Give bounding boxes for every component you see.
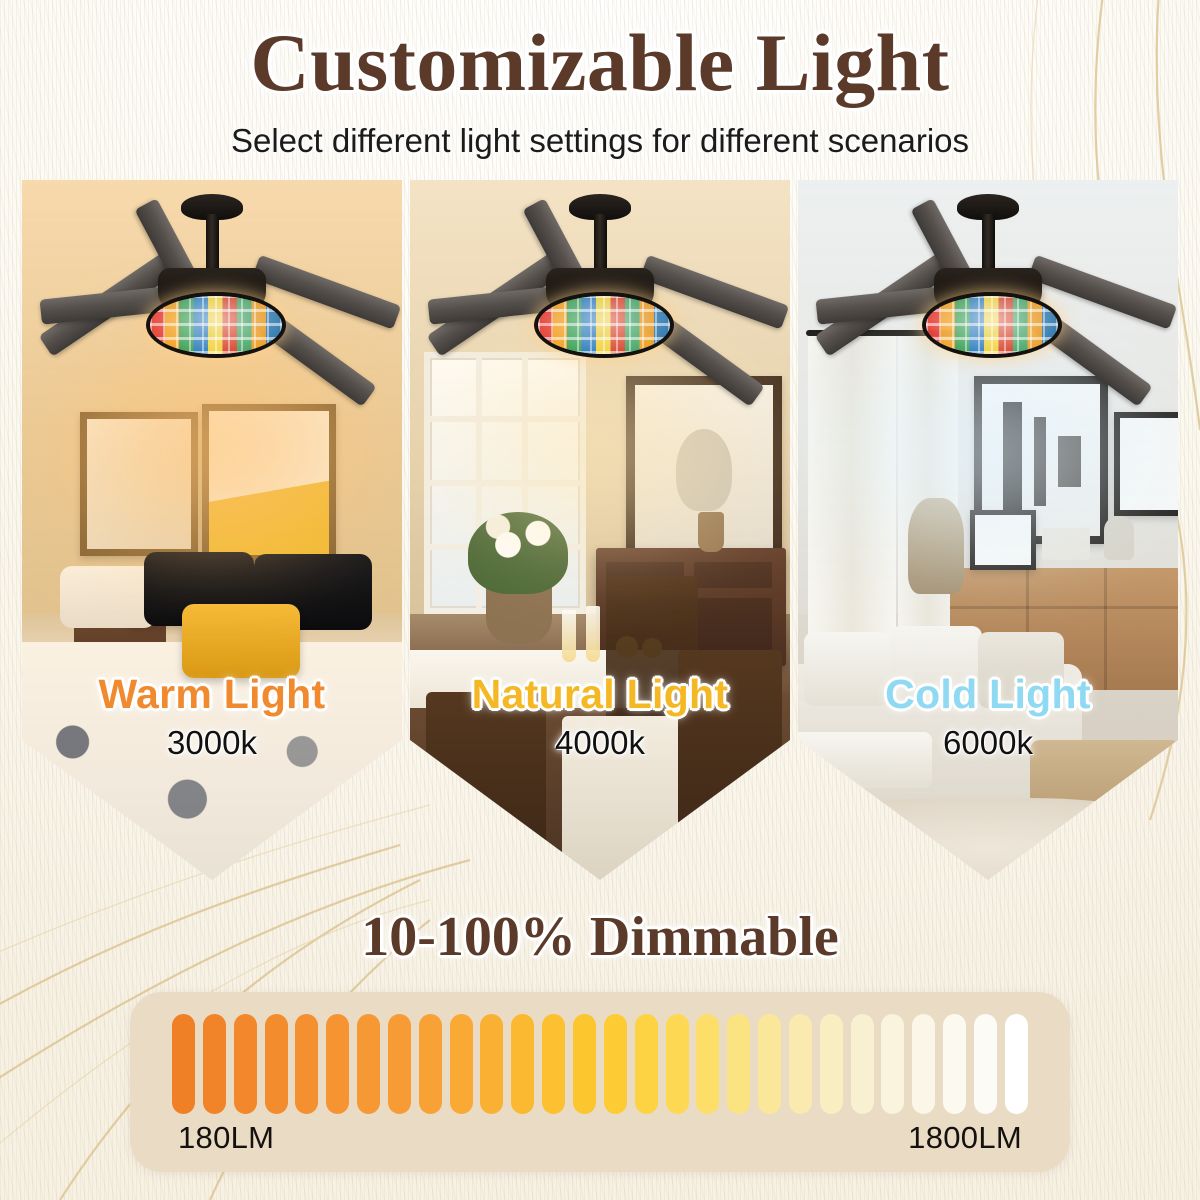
- lumen-range-row: 180LM 1800LM: [178, 1120, 1022, 1156]
- decor-vase: [1104, 516, 1134, 560]
- shade-highlight: [538, 296, 670, 354]
- scenario-card-cold[interactable]: Cold Light 6000k: [798, 180, 1178, 880]
- dimmer-bar[interactable]: [604, 1014, 627, 1114]
- frame-art-flowers: [676, 429, 731, 511]
- light-kelvin: 3000k: [22, 724, 402, 762]
- dimmer-bar[interactable]: [419, 1014, 442, 1114]
- dimmer-bar[interactable]: [326, 1014, 349, 1114]
- dimmer-bar[interactable]: [295, 1014, 318, 1114]
- fan-light-shade-mosaic: [922, 292, 1062, 358]
- shade-highlight: [150, 296, 282, 354]
- dimmer-bar[interactable]: [265, 1014, 288, 1114]
- lumen-min-label: 180LM: [178, 1120, 274, 1156]
- dimmer-bar[interactable]: [573, 1014, 596, 1114]
- dimmer-panel[interactable]: 180LM 1800LM: [130, 992, 1070, 1172]
- dimmer-bar[interactable]: [789, 1014, 812, 1114]
- drawer: [694, 562, 772, 588]
- fan-downrod: [982, 214, 995, 276]
- fan-downrod: [594, 214, 607, 276]
- dimmer-bar[interactable]: [480, 1014, 503, 1114]
- pillow-yellow-accent: [182, 604, 300, 678]
- branch-vase: [908, 498, 964, 594]
- window-muntin: [430, 480, 580, 486]
- scenario-panels: Warm Light 3000k: [22, 180, 1178, 880]
- dimmer-bar[interactable]: [943, 1014, 966, 1114]
- dimmer-bar[interactable]: [234, 1014, 257, 1114]
- room-photo-living: [798, 180, 1178, 880]
- dimmer-bar[interactable]: [727, 1014, 750, 1114]
- area-rug: [798, 798, 1178, 880]
- wall-frame-left: [80, 412, 198, 556]
- dimmer-bar[interactable]: [450, 1014, 473, 1114]
- frame-art-stroke: [1003, 402, 1022, 511]
- wine-glass: [586, 606, 600, 662]
- fan-light-shade-mosaic: [146, 292, 286, 358]
- frame-art: [87, 419, 191, 549]
- scenario-label-natural: Natural Light 4000k: [410, 671, 790, 762]
- frame-art: [209, 411, 329, 555]
- wall-frame-right: [202, 404, 336, 562]
- light-name: Cold Light: [798, 671, 1178, 718]
- light-name: Natural Light: [410, 671, 790, 718]
- page-subtitle: Select different light settings for diff…: [0, 110, 1200, 160]
- dimmer-bar[interactable]: [172, 1014, 195, 1114]
- cabinet-line: [950, 606, 1178, 609]
- dimmer-bar[interactable]: [511, 1014, 534, 1114]
- window-muntin: [430, 416, 580, 422]
- ceiling-fan-natural: [420, 188, 780, 378]
- page-title: Customizable Light: [0, 0, 1200, 110]
- light-kelvin: 6000k: [798, 724, 1178, 762]
- room-photo-bedroom: [22, 180, 402, 880]
- dimmer-bar[interactable]: [388, 1014, 411, 1114]
- dimmer-bar[interactable]: [635, 1014, 658, 1114]
- scenario-label-warm: Warm Light 3000k: [22, 671, 402, 762]
- dimmer-bar[interactable]: [542, 1014, 565, 1114]
- frame-art-stroke: [1058, 436, 1082, 488]
- dimmer-bar[interactable]: [851, 1014, 874, 1114]
- vase: [698, 512, 724, 552]
- fan-light-shade-mosaic: [534, 292, 674, 358]
- wall-frame-small: [1114, 412, 1178, 516]
- scenario-label-cold: Cold Light 6000k: [798, 671, 1178, 762]
- orchid-plant: [468, 512, 568, 594]
- dimmer-bar[interactable]: [1005, 1014, 1028, 1114]
- dimmer-bar[interactable]: [820, 1014, 843, 1114]
- scenario-card-natural[interactable]: Natural Light 4000k: [410, 180, 790, 880]
- ceiling-fan-warm: [32, 188, 392, 378]
- shade-highlight: [926, 296, 1058, 354]
- shelf-photo: [970, 510, 1036, 570]
- wine-glass: [562, 610, 576, 662]
- dimmer-bar[interactable]: [666, 1014, 689, 1114]
- book-stack: [1042, 528, 1090, 560]
- light-name: Warm Light: [22, 671, 402, 718]
- dimmer-bar[interactable]: [881, 1014, 904, 1114]
- dimmer-bar-track[interactable]: [172, 1014, 1028, 1114]
- light-kelvin: 4000k: [410, 724, 790, 762]
- room-photo-dining: [410, 180, 790, 880]
- fan-downrod: [206, 214, 219, 276]
- scenario-card-warm[interactable]: Warm Light 3000k: [22, 180, 402, 880]
- lumen-max-label: 1800LM: [908, 1120, 1022, 1156]
- dimmable-title: 10-100% Dimmable: [0, 905, 1200, 969]
- dimmer-bar[interactable]: [203, 1014, 226, 1114]
- header: Customizable Light Select different ligh…: [0, 0, 1200, 160]
- pillow-white-left: [60, 566, 156, 628]
- dimmer-bar[interactable]: [758, 1014, 781, 1114]
- dimmer-bar[interactable]: [912, 1014, 935, 1114]
- dimmer-bar[interactable]: [974, 1014, 997, 1114]
- frame-art-stroke: [1034, 417, 1046, 505]
- dimmer-bar[interactable]: [357, 1014, 380, 1114]
- ceiling-fan-cold: [808, 188, 1168, 378]
- dimmer-bar[interactable]: [696, 1014, 719, 1114]
